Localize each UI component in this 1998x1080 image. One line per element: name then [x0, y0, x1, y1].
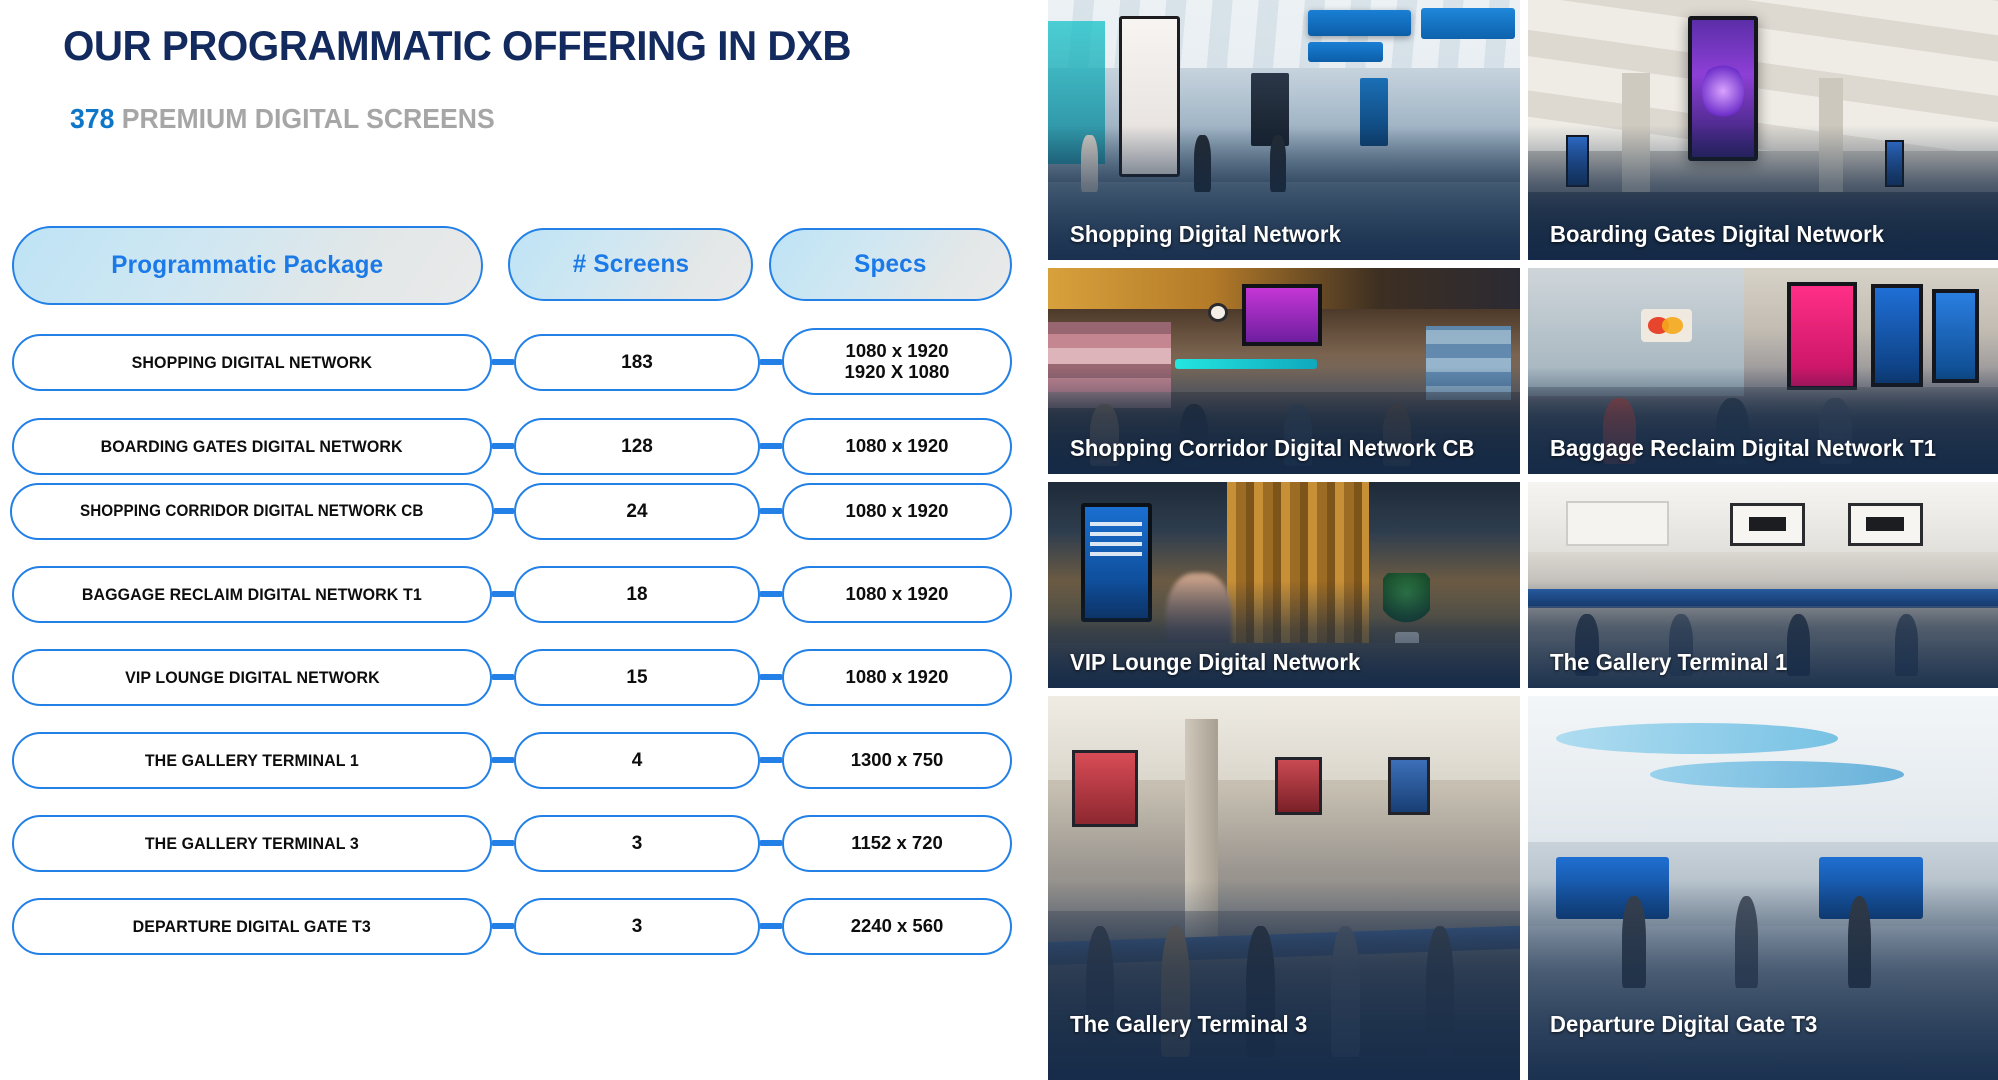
table-row-specs-2[interactable]: 1080 x 1920	[782, 483, 1012, 540]
row-connector	[492, 757, 514, 763]
packages-table: Programmatic Package # Screens Specs SHO…	[0, 0, 1040, 1080]
specs-line-2: 1920 X 1080	[845, 362, 950, 383]
row-connector	[760, 757, 782, 763]
column-header-specs-label: Specs	[854, 250, 926, 279]
table-row-specs-7[interactable]: 2240 x 560	[782, 898, 1012, 955]
gallery-caption: Boarding Gates Digital Network	[1550, 221, 1884, 248]
row-connector	[492, 359, 514, 365]
table-row-package-2[interactable]: SHOPPING CORRIDOR DIGITAL NETWORK CB	[10, 483, 494, 540]
row-connector	[760, 359, 782, 365]
specs-line-1: 1080 x 1920	[846, 436, 949, 457]
table-row-screens-0[interactable]: 183	[514, 334, 760, 391]
gallery-caption: Shopping Corridor Digital Network CB	[1070, 435, 1475, 462]
photo-gallery-grid: Shopping Digital Network Boarding Gates …	[1048, 0, 1998, 1080]
table-row-screens-3[interactable]: 18	[514, 566, 760, 623]
gallery-tile-boarding-gates-digital-network[interactable]: Boarding Gates Digital Network	[1528, 0, 1998, 260]
column-header-package: Programmatic Package	[12, 226, 483, 305]
table-row-package-1[interactable]: BOARDING GATES DIGITAL NETWORK	[12, 418, 492, 475]
caption-scrim	[1048, 880, 1520, 1080]
table-row-screens-7[interactable]: 3	[514, 898, 760, 955]
gallery-caption: Departure Digital Gate T3	[1550, 1011, 1817, 1038]
table-row-package-4[interactable]: VIP LOUNGE DIGITAL NETWORK	[12, 649, 492, 706]
row-connector	[760, 674, 782, 680]
table-row-specs-6[interactable]: 1152 x 720	[782, 815, 1012, 872]
screens-value: 4	[632, 750, 643, 772]
table-row-package-7[interactable]: DEPARTURE DIGITAL GATE T3	[12, 898, 492, 955]
specs-line-1: 2240 x 560	[851, 916, 944, 937]
slide-root: OUR PROGRAMMATIC OFFERING IN DXB 378 PRE…	[0, 0, 1998, 1080]
screens-value: 24	[626, 501, 647, 523]
gallery-caption: Baggage Reclaim Digital Network T1	[1550, 435, 1936, 462]
package-label: SHOPPING CORRIDOR DIGITAL NETWORK CB	[80, 502, 424, 521]
table-row-package-5[interactable]: THE GALLERY TERMINAL 1	[12, 732, 492, 789]
gallery-caption: Shopping Digital Network	[1070, 221, 1341, 248]
screens-value: 183	[621, 352, 653, 374]
column-header-screens-label: # Screens	[572, 250, 688, 279]
package-label: THE GALLERY TERMINAL 1	[145, 751, 359, 771]
screens-value: 18	[626, 584, 647, 606]
row-connector	[492, 591, 514, 597]
left-content-panel: OUR PROGRAMMATIC OFFERING IN DXB 378 PRE…	[0, 0, 1040, 1080]
row-connector	[760, 591, 782, 597]
row-connector	[492, 443, 514, 449]
specs-line-1: 1152 x 720	[851, 833, 943, 854]
table-row-specs-0[interactable]: 1080 x 1920 1920 X 1080	[782, 328, 1012, 395]
screens-value: 3	[632, 916, 643, 938]
screens-value: 15	[626, 667, 647, 689]
table-row-specs-5[interactable]: 1300 x 750	[782, 732, 1012, 789]
column-header-screens: # Screens	[508, 228, 753, 301]
table-row-screens-5[interactable]: 4	[514, 732, 760, 789]
specs-line-1: 1080 x 1920	[846, 501, 949, 522]
package-label: THE GALLERY TERMINAL 3	[145, 834, 359, 854]
table-row-package-3[interactable]: BAGGAGE RECLAIM DIGITAL NETWORK T1	[12, 566, 492, 623]
row-connector	[492, 923, 514, 929]
package-label: VIP LOUNGE DIGITAL NETWORK	[125, 668, 380, 688]
gallery-tile-vip-lounge-digital-network[interactable]: VIP Lounge Digital Network	[1048, 482, 1520, 688]
gallery-caption: The Gallery Terminal 1	[1550, 649, 1787, 676]
gallery-tile-the-gallery-terminal-3[interactable]: The Gallery Terminal 3	[1048, 696, 1520, 1080]
table-row-screens-6[interactable]: 3	[514, 815, 760, 872]
table-row-specs-3[interactable]: 1080 x 1920	[782, 566, 1012, 623]
specs-line-1: 1080 x 1920	[846, 341, 949, 362]
specs-line-1: 1080 x 1920	[846, 584, 949, 605]
package-label: SHOPPING DIGITAL NETWORK	[132, 353, 372, 373]
table-row-screens-2[interactable]: 24	[514, 483, 760, 540]
table-row-screens-1[interactable]: 128	[514, 418, 760, 475]
table-row-specs-4[interactable]: 1080 x 1920	[782, 649, 1012, 706]
gallery-caption: VIP Lounge Digital Network	[1070, 649, 1360, 676]
row-connector	[492, 840, 514, 846]
column-header-specs: Specs	[769, 228, 1012, 301]
specs-line-1: 1300 x 750	[851, 750, 944, 771]
package-label: BAGGAGE RECLAIM DIGITAL NETWORK T1	[82, 585, 422, 605]
row-connector	[760, 443, 782, 449]
column-header-package-label: Programmatic Package	[111, 251, 383, 280]
table-row-package-0[interactable]: SHOPPING DIGITAL NETWORK	[12, 334, 492, 391]
gallery-tile-baggage-reclaim-digital-network-t1[interactable]: Baggage Reclaim Digital Network T1	[1528, 268, 1998, 474]
table-row-package-6[interactable]: THE GALLERY TERMINAL 3	[12, 815, 492, 872]
gallery-tile-shopping-corridor-digital-network-cb[interactable]: Shopping Corridor Digital Network CB	[1048, 268, 1520, 474]
package-label: BOARDING GATES DIGITAL NETWORK	[101, 437, 403, 457]
specs-line-1: 1080 x 1920	[846, 667, 949, 688]
row-connector	[492, 674, 514, 680]
screens-value: 128	[621, 436, 653, 458]
gallery-tile-shopping-digital-network[interactable]: Shopping Digital Network	[1048, 0, 1520, 260]
screens-value: 3	[632, 833, 643, 855]
gallery-tile-departure-digital-gate-t3[interactable]: Departure Digital Gate T3	[1528, 696, 1998, 1080]
row-connector	[760, 923, 782, 929]
gallery-tile-the-gallery-terminal-1[interactable]: The Gallery Terminal 1	[1528, 482, 1998, 688]
row-connector	[494, 508, 514, 514]
row-connector	[760, 508, 782, 514]
row-connector	[760, 840, 782, 846]
package-label: DEPARTURE DIGITAL GATE T3	[133, 917, 371, 937]
table-row-specs-1[interactable]: 1080 x 1920	[782, 418, 1012, 475]
gallery-caption: The Gallery Terminal 3	[1070, 1011, 1307, 1038]
caption-scrim	[1528, 880, 1998, 1080]
table-row-screens-4[interactable]: 15	[514, 649, 760, 706]
